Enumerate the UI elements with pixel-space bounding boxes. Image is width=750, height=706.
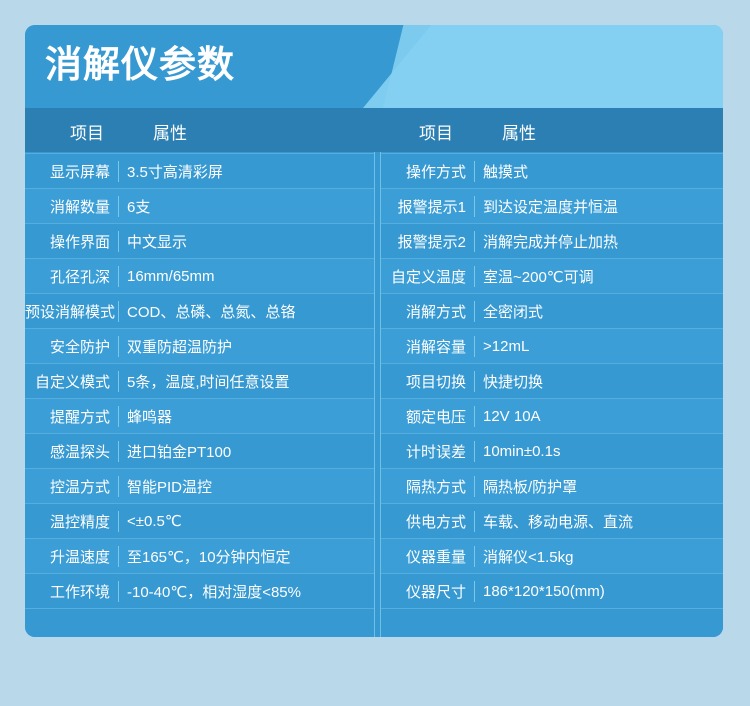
row-attr-value: -10-40℃，相对湿度<85% (119, 581, 374, 602)
table-row: 额定电压12V 10A (381, 399, 723, 434)
row-attr-value: 智能PID温控 (119, 476, 374, 497)
row-attr-value: 中文显示 (119, 231, 374, 252)
row-item-label: 操作界面 (25, 231, 119, 252)
spec-table-left: 显示屏幕3.5寸高清彩屏消解数量6支操作界面中文显示孔径孔深16mm/65mm预… (25, 152, 374, 637)
table-row: 消解方式全密闭式 (381, 294, 723, 329)
row-item-label: 供电方式 (381, 511, 475, 532)
row-item-label: 控温方式 (25, 476, 119, 497)
table-center-divider (374, 152, 381, 637)
row-attr-value: 进口铂金PT100 (119, 441, 374, 462)
column-header-left: 项目 属性 (25, 108, 374, 152)
page-title: 消解仪参数 (45, 42, 235, 88)
header-diagonal-accent-2 (383, 25, 723, 108)
table-row: 项目切换快捷切换 (381, 364, 723, 399)
row-attr-value: 全密闭式 (475, 301, 723, 322)
column-header-right: 项目 属性 (374, 108, 723, 152)
row-attr-value: 5条，温度,时间任意设置 (119, 371, 374, 392)
row-attr-value: 触摸式 (475, 161, 723, 182)
row-item-label: 计时误差 (381, 441, 475, 462)
spec-card: 消解仪参数 项目 属性 项目 属性 显示屏幕3.5寸高清彩屏消解数量6支操作界面… (25, 25, 723, 637)
row-item-label: 预设消解模式 (25, 301, 119, 322)
table-row: 操作方式触摸式 (381, 153, 723, 189)
row-attr-value: COD、总磷、总氮、总铬 (119, 301, 374, 322)
spec-rows-left: 显示屏幕3.5寸高清彩屏消解数量6支操作界面中文显示孔径孔深16mm/65mm预… (25, 152, 374, 609)
row-item-label: 消解数量 (25, 196, 119, 217)
table-row: 温控精度<±0.5℃ (25, 504, 374, 539)
row-attr-value: 快捷切换 (475, 371, 723, 392)
table-row: 孔径孔深16mm/65mm (25, 259, 374, 294)
column-header-strip: 项目 属性 项目 属性 (25, 108, 723, 152)
table-row: 操作界面中文显示 (25, 224, 374, 259)
row-item-label: 隔热方式 (381, 476, 475, 497)
row-attr-value: 186*120*150(mm) (475, 583, 723, 600)
table-row: 安全防护双重防超温防护 (25, 329, 374, 364)
spec-sheet-page: 消解仪参数 项目 属性 项目 属性 显示屏幕3.5寸高清彩屏消解数量6支操作界面… (0, 0, 750, 706)
row-item-label: 消解容量 (381, 336, 475, 357)
row-attr-value: 12V 10A (475, 408, 723, 425)
column-header-item-right: 项目 (419, 119, 453, 144)
row-attr-value: 车载、移动电源、直流 (475, 511, 723, 532)
table-row: 仪器尺寸186*120*150(mm) (381, 574, 723, 609)
row-item-label: 仪器尺寸 (381, 581, 475, 602)
card-header: 消解仪参数 (25, 25, 723, 108)
spec-table-right: 操作方式触摸式报警提示1到达设定温度并恒温报警提示2消解完成并停止加热自定义温度… (374, 152, 723, 637)
row-item-label: 升温速度 (25, 546, 119, 567)
row-attr-value: 10min±0.1s (475, 443, 723, 460)
table-row: 感温探头进口铂金PT100 (25, 434, 374, 469)
spec-table-body: 显示屏幕3.5寸高清彩屏消解数量6支操作界面中文显示孔径孔深16mm/65mm预… (25, 152, 723, 637)
row-item-label: 温控精度 (25, 511, 119, 532)
row-attr-value: 消解仪<1.5kg (475, 546, 723, 567)
column-header-attr-right: 属性 (502, 119, 536, 144)
row-attr-value: 6支 (119, 196, 374, 217)
row-item-label: 报警提示2 (381, 231, 475, 252)
row-attr-value: 16mm/65mm (119, 268, 374, 285)
table-row: 消解容量>12mL (381, 329, 723, 364)
table-row: 提醒方式蜂鸣器 (25, 399, 374, 434)
row-attr-value: 3.5寸高清彩屏 (119, 161, 374, 182)
row-item-label: 额定电压 (381, 406, 475, 427)
table-row: 报警提示1到达设定温度并恒温 (381, 189, 723, 224)
row-item-label: 感温探头 (25, 441, 119, 462)
spec-rows-right: 操作方式触摸式报警提示1到达设定温度并恒温报警提示2消解完成并停止加热自定义温度… (381, 152, 723, 609)
row-attr-value: <±0.5℃ (119, 512, 374, 530)
table-row: 显示屏幕3.5寸高清彩屏 (25, 153, 374, 189)
row-attr-value: 隔热板/防护罩 (475, 476, 723, 497)
row-attr-value: 蜂鸣器 (119, 406, 374, 427)
table-row: 仪器重量消解仪<1.5kg (381, 539, 723, 574)
table-row: 自定义模式5条，温度,时间任意设置 (25, 364, 374, 399)
row-attr-value: >12mL (475, 338, 723, 355)
table-row: 预设消解模式COD、总磷、总氮、总铬 (25, 294, 374, 329)
column-header-item-left: 项目 (70, 119, 104, 144)
table-row: 消解数量6支 (25, 189, 374, 224)
table-row: 升温速度至165℃，10分钟内恒定 (25, 539, 374, 574)
table-row: 控温方式智能PID温控 (25, 469, 374, 504)
row-item-label: 项目切换 (381, 371, 475, 392)
table-row: 隔热方式隔热板/防护罩 (381, 469, 723, 504)
table-row: 供电方式车载、移动电源、直流 (381, 504, 723, 539)
row-item-label: 自定义模式 (25, 371, 119, 392)
row-item-label: 安全防护 (25, 336, 119, 357)
row-attr-value: 双重防超温防护 (119, 336, 374, 357)
row-item-label: 显示屏幕 (25, 161, 119, 182)
row-item-label: 提醒方式 (25, 406, 119, 427)
row-attr-value: 至165℃，10分钟内恒定 (119, 546, 374, 567)
row-item-label: 仪器重量 (381, 546, 475, 567)
table-row: 自定义温度室温~200℃可调 (381, 259, 723, 294)
row-attr-value: 到达设定温度并恒温 (475, 196, 723, 217)
table-row: 报警提示2消解完成并停止加热 (381, 224, 723, 259)
column-header-attr-left: 属性 (153, 119, 187, 144)
table-row: 计时误差10min±0.1s (381, 434, 723, 469)
row-attr-value: 室温~200℃可调 (475, 266, 723, 287)
row-attr-value: 消解完成并停止加热 (475, 231, 723, 252)
row-item-label: 自定义温度 (381, 266, 475, 287)
row-item-label: 报警提示1 (381, 196, 475, 217)
row-item-label: 消解方式 (381, 301, 475, 322)
row-item-label: 孔径孔深 (25, 266, 119, 287)
table-row: 工作环境-10-40℃，相对湿度<85% (25, 574, 374, 609)
row-item-label: 工作环境 (25, 581, 119, 602)
row-item-label: 操作方式 (381, 161, 475, 182)
